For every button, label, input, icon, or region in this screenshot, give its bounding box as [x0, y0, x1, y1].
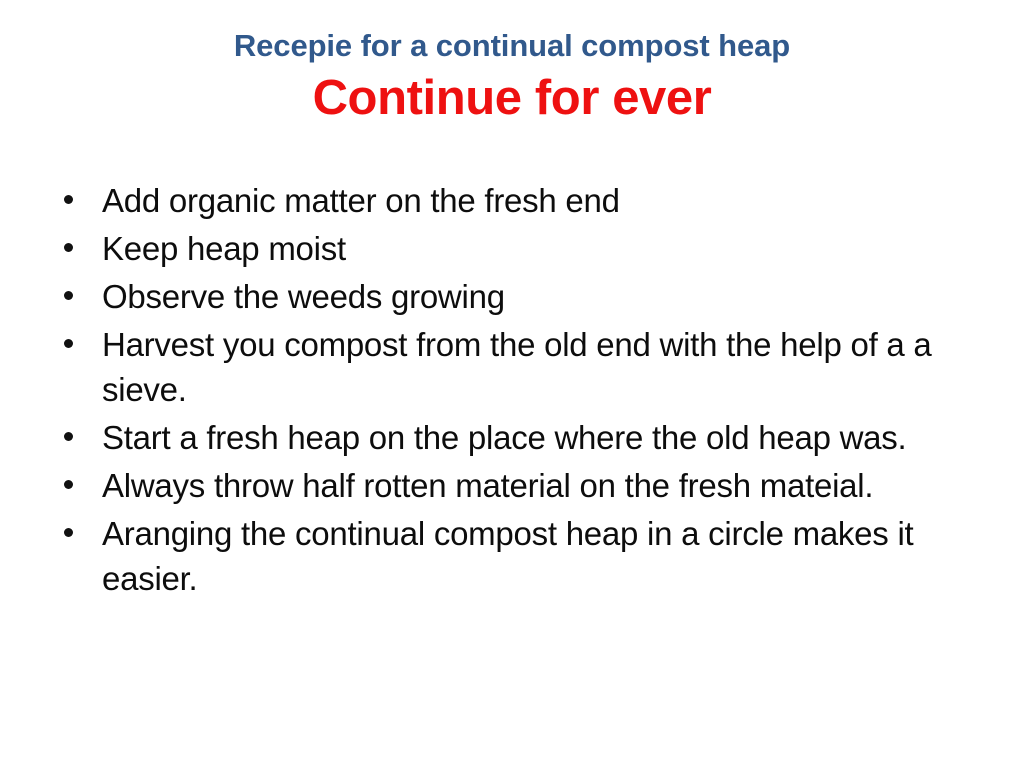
list-item: Keep heap moist: [56, 226, 946, 271]
bullet-dot-icon: [64, 528, 73, 537]
list-item: Aranging the continual compost heap in a…: [56, 511, 946, 601]
bullet-dot-icon: [64, 243, 73, 252]
list-item-text: Observe the weeds growing: [102, 274, 946, 319]
bullet-dot-icon: [64, 291, 73, 300]
bullet-list: Add organic matter on the fresh end Keep…: [56, 178, 946, 601]
bullet-dot-icon: [64, 339, 73, 348]
list-item-text: Keep heap moist: [102, 226, 946, 271]
slide-canvas: Recepie for a continual compost heap Con…: [0, 0, 1024, 768]
bullet-dot-icon: [64, 432, 73, 441]
bullet-dot-icon: [64, 195, 73, 204]
list-item: Start a fresh heap on the place where th…: [56, 415, 946, 460]
page-subtitle: Continue for ever: [0, 70, 1024, 128]
list-item-text: Aranging the continual compost heap in a…: [102, 511, 946, 601]
list-item-text: Always throw half rotten material on the…: [102, 463, 938, 508]
list-item: Observe the weeds growing: [56, 274, 946, 319]
list-item-text: Add organic matter on the fresh end: [102, 178, 946, 223]
bullet-list-container: Add organic matter on the fresh end Keep…: [56, 178, 946, 604]
list-item-text: Harvest you compost from the old end wit…: [102, 322, 946, 412]
list-item: Add organic matter on the fresh end: [56, 178, 946, 223]
page-title: Recepie for a continual compost heap: [0, 26, 1024, 66]
list-item-text: Start a fresh heap on the place where th…: [102, 415, 938, 460]
title-block: Recepie for a continual compost heap Con…: [0, 26, 1024, 127]
list-item: Harvest you compost from the old end wit…: [56, 322, 946, 412]
bullet-dot-icon: [64, 480, 73, 489]
list-item: Always throw half rotten material on the…: [56, 463, 946, 508]
